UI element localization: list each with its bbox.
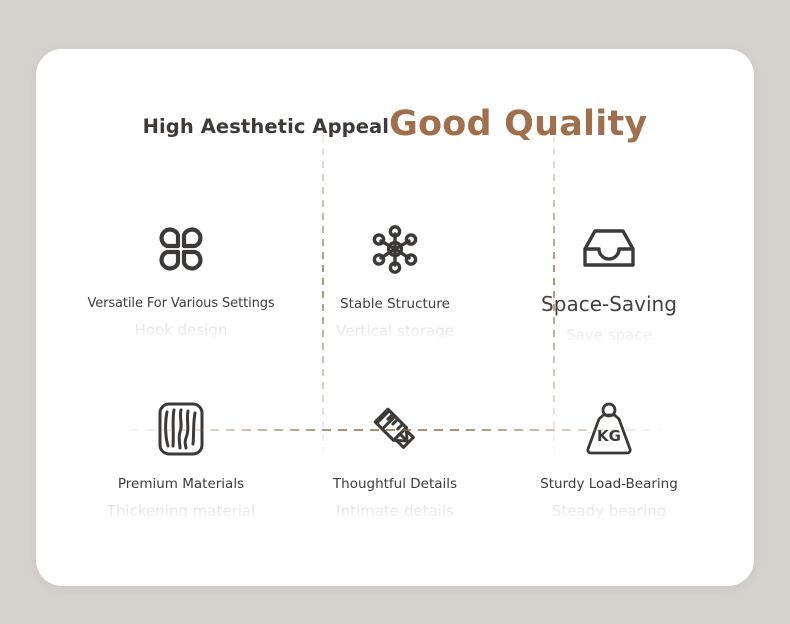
- feature-subtitle: Save space: [566, 326, 652, 344]
- feature-item-stable-structure[interactable]: Stable Structure Vertical storage: [288, 204, 502, 384]
- feature-title: Stable Structure: [340, 296, 450, 312]
- feature-subtitle: Hook design: [135, 321, 228, 339]
- feature-subtitle: Vertical storage: [336, 322, 454, 340]
- feature-title: Sturdy Load-Bearing: [540, 476, 678, 492]
- feature-item-space-saving[interactable]: Space-Saving Save space: [502, 204, 716, 384]
- feature-item-thoughtful-details[interactable]: Thoughtful Details Intimate details: [288, 384, 502, 564]
- feature-item-load-bearing[interactable]: KG Sturdy Load-Bearing Steady bearing: [502, 384, 716, 564]
- feature-title: Space-Saving: [541, 292, 677, 316]
- vertical-divider-2: [553, 109, 555, 459]
- feature-item-versatile[interactable]: Versatile For Various Settings Hook desi…: [74, 204, 288, 384]
- feature-subtitle: Steady bearing: [552, 502, 666, 520]
- molecule-node-icon: [365, 216, 425, 282]
- feature-card: High Aesthetic Appeal Good Quality Versa…: [36, 49, 754, 586]
- feature-item-premium-materials[interactable]: Premium Materials Thickening material: [74, 384, 288, 564]
- title-accent: Good Quality: [389, 107, 647, 142]
- page-title: High Aesthetic Appeal Good Quality: [36, 105, 754, 140]
- vertical-divider-1: [322, 109, 324, 459]
- page-root: High Aesthetic Appeal Good Quality Versa…: [0, 0, 790, 624]
- feature-title: Thoughtful Details: [333, 476, 457, 492]
- feature-grid: Versatile For Various Settings Hook desi…: [74, 204, 716, 564]
- feature-title: Versatile For Various Settings: [87, 296, 274, 311]
- horizontal-divider: [114, 429, 674, 431]
- clover-petals-icon: [151, 216, 211, 282]
- inbox-tray-icon: [577, 216, 641, 282]
- feature-subtitle: Intimate details: [336, 502, 454, 520]
- title-primary: High Aesthetic Appeal: [143, 115, 390, 138]
- feature-title: Premium Materials: [118, 476, 244, 492]
- feature-subtitle: Thickening material: [107, 502, 256, 520]
